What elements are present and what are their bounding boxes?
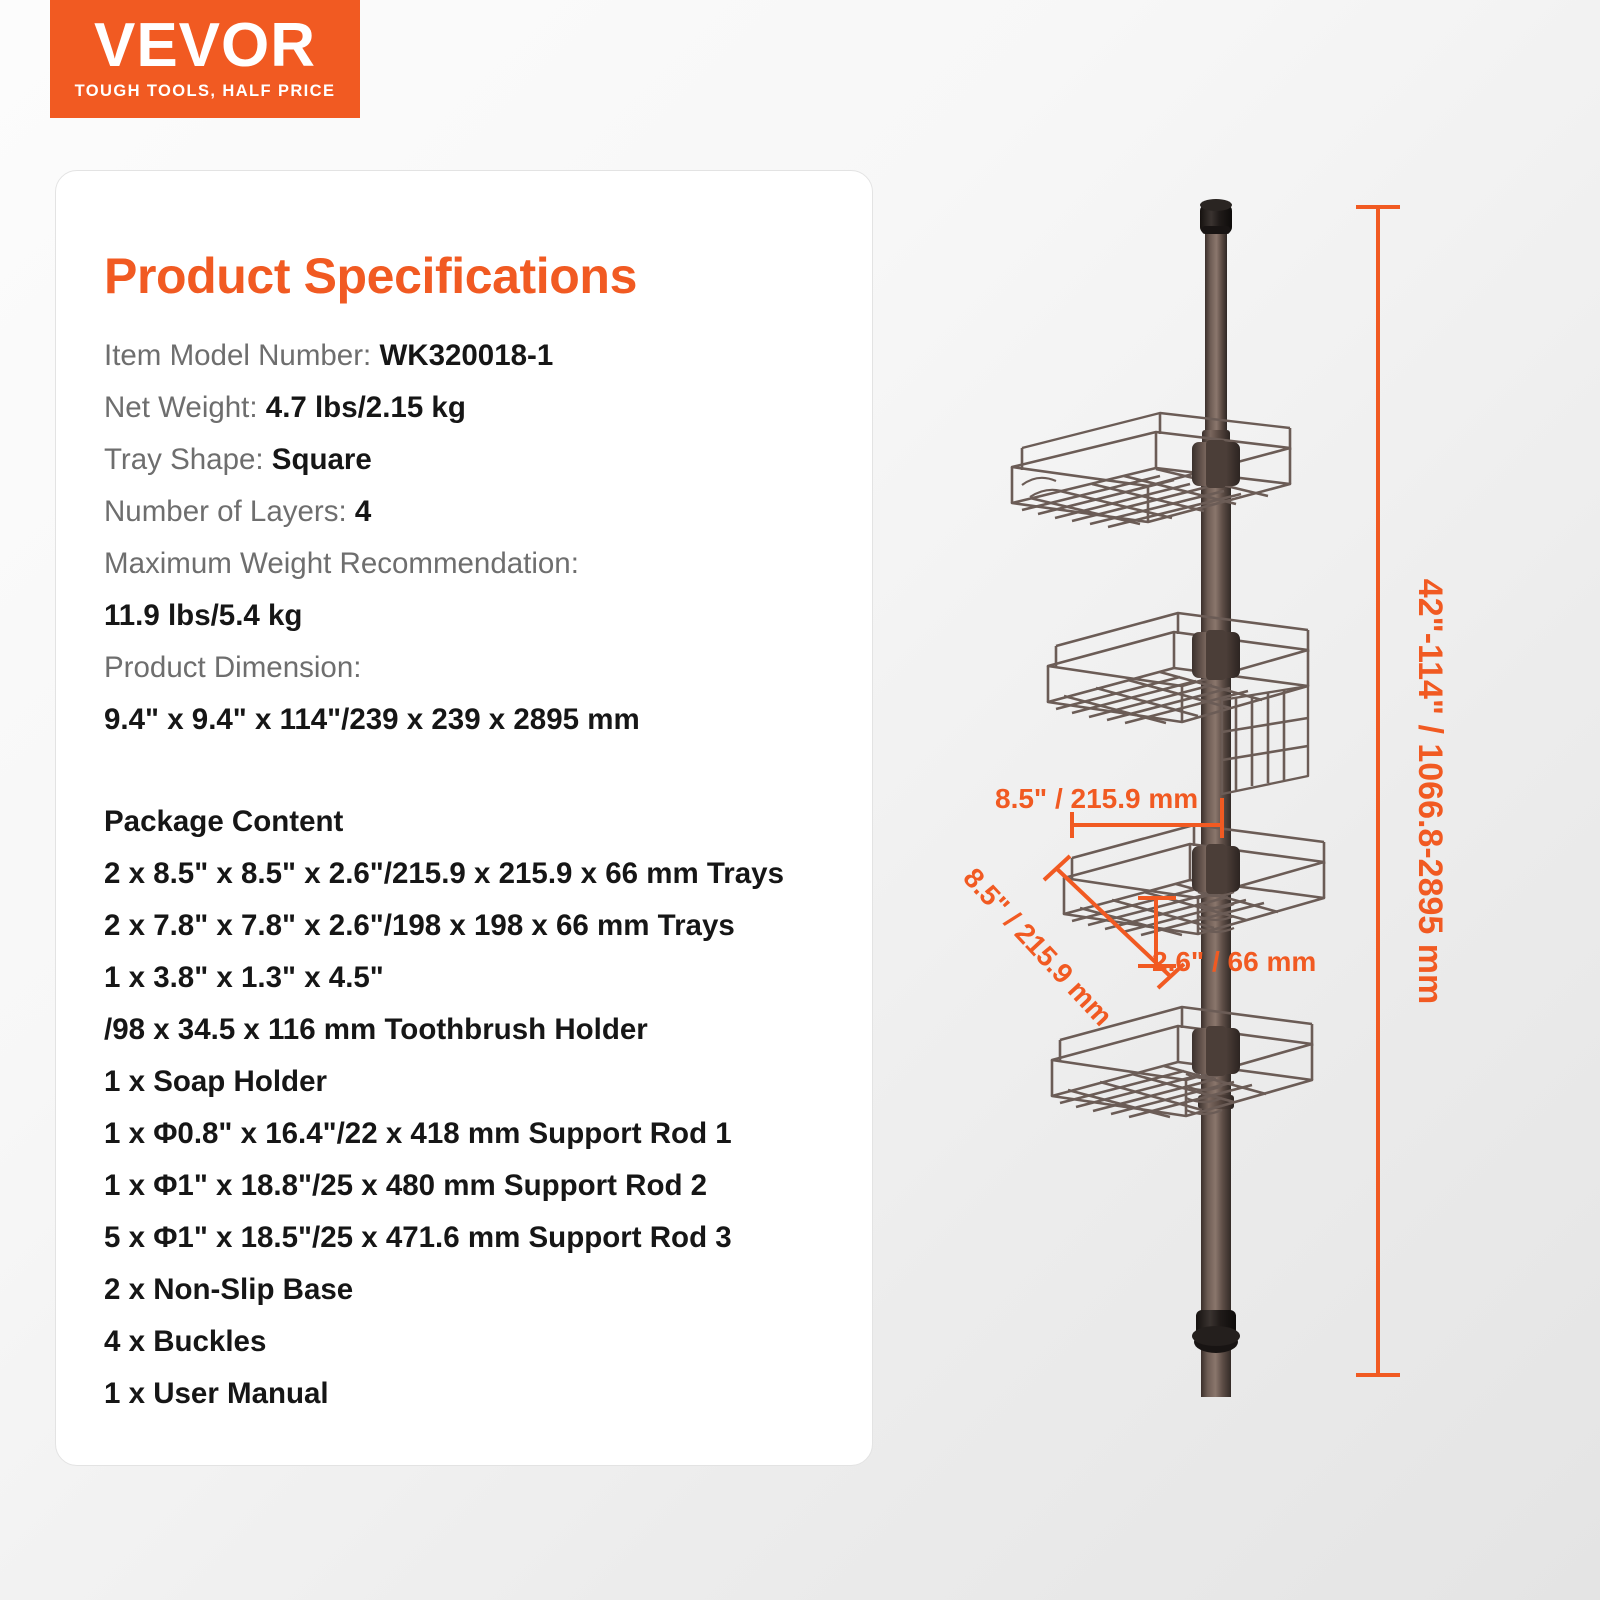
spec-label-layers: Number of Layers: (104, 495, 355, 528)
package-item: 1 x Soap Holder (104, 1056, 864, 1108)
spec-value-net-weight: 4.7 lbs/2.15 kg (266, 391, 466, 424)
spec-label-tray-shape: Tray Shape: (104, 443, 272, 476)
package-item: 2 x 7.8" x 7.8" x 2.6"/198 x 198 x 66 mm… (104, 900, 864, 952)
package-item: 1 x Φ1" x 18.8"/25 x 480 mm Support Rod … (104, 1160, 864, 1212)
spec-value-max-weight: 11.9 lbs/5.4 kg (104, 590, 844, 642)
basket-tier-2 (1048, 613, 1308, 794)
basket-tier-3 (1064, 825, 1324, 935)
product-specifications-card: Product Specifications Item Model Number… (55, 170, 873, 1466)
spec-label-net-weight: Net Weight: (104, 391, 266, 424)
spec-label-max-weight: Maximum Weight Recommendation: (104, 547, 579, 580)
package-item: 1 x User Manual (104, 1368, 864, 1420)
spec-label-dimension: Product Dimension: (104, 642, 844, 694)
pole-upper (1205, 220, 1227, 435)
spec-row-tray-shape: Tray Shape: Square (104, 434, 844, 486)
spec-value-dimension: 9.4" x 9.4" x 114"/239 x 239 x 2895 mm (104, 694, 844, 746)
spec-row-net-weight: Net Weight: 4.7 lbs/2.15 kg (104, 382, 844, 434)
height-dimension-line (1376, 205, 1380, 1377)
dimension-label-height-wrap: 42"-114" / 1066.8-2895 mm (1400, 205, 1460, 1377)
height-tick-bottom (1356, 1373, 1400, 1377)
dimension-label-height: 42"-114" / 1066.8-2895 mm (1411, 578, 1450, 1003)
package-item: 1 x Φ0.8" x 16.4"/22 x 418 mm Support Ro… (104, 1108, 864, 1160)
package-item: 2 x 8.5" x 8.5" x 2.6"/215.9 x 215.9 x 6… (104, 848, 864, 900)
spec-value-tray-shape: Square (272, 443, 372, 476)
dimension-label-width: 8.5" / 215.9 mm (995, 783, 1198, 815)
package-content-block: Package Content 2 x 8.5" x 8.5" x 2.6"/2… (104, 796, 864, 1420)
page-title: Product Specifications (104, 247, 637, 305)
spec-row-layers: Number of Layers: 4 (104, 486, 844, 538)
package-item: 2 x Non-Slip Base (104, 1264, 864, 1316)
package-content-heading: Package Content (104, 796, 864, 848)
spec-row-max-weight: Maximum Weight Recommendation: (104, 538, 844, 590)
pole-bottom-foot (1192, 1310, 1240, 1353)
vevor-logo: VEVOR TOUGH TOOLS, HALF PRICE (50, 0, 360, 118)
specification-list: Item Model Number: WK320018-1 Net Weight… (104, 330, 844, 746)
spec-value-layers: 4 (355, 495, 371, 528)
spec-row-model: Item Model Number: WK320018-1 (104, 330, 844, 382)
dimension-label-thickness: 2.6" / 66 mm (1152, 946, 1316, 978)
package-item: 1 x 3.8" x 1.3" x 4.5" (104, 952, 864, 1004)
spec-value-model: WK320018-1 (379, 339, 553, 372)
package-item: 4 x Buckles (104, 1316, 864, 1368)
package-item: /98 x 34.5 x 116 mm Toothbrush Holder (104, 1004, 864, 1056)
brand-wordmark: VEVOR (94, 17, 316, 76)
basket-tier-1 (1012, 413, 1290, 527)
height-tick-top (1356, 205, 1400, 209)
pole-top-cap (1200, 199, 1232, 234)
package-item: 5 x Φ1" x 18.5"/25 x 471.6 mm Support Ro… (104, 1212, 864, 1264)
brand-tagline: TOUGH TOOLS, HALF PRICE (75, 82, 336, 101)
spec-label-model: Item Model Number: (104, 339, 379, 372)
